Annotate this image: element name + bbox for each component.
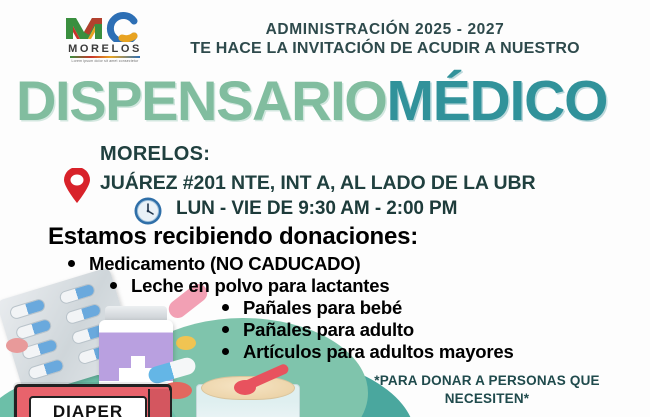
yellow-pill-illustration	[176, 336, 196, 350]
mc-logo-icon	[62, 8, 148, 42]
donation-item: Leche en polvo para lactantes	[110, 275, 389, 297]
title-dispensario: DISPENSARIO	[16, 69, 386, 132]
donation-item-label: Leche en polvo para lactantes	[131, 275, 389, 296]
header-block: ADMINISTRACIÓN 2025 - 2027 TE HACE LA IN…	[165, 20, 605, 59]
bullet-icon	[222, 304, 229, 311]
mc-logo-mark	[62, 8, 148, 42]
bullet-icon	[222, 348, 229, 355]
footer-note: *PARA DONAR A PERSONAS QUE NECESITEN*	[352, 372, 622, 408]
diaper-box-side	[148, 389, 170, 417]
logo-small-print: Lorem ipsum dolor sit amet consectetur	[62, 59, 148, 63]
page-title: DISPENSARIOMÉDICO	[16, 73, 607, 130]
diaper-box-illustration: DIAPER	[14, 384, 172, 417]
rose-pill-illustration	[6, 338, 28, 353]
logo-color-rule	[70, 56, 140, 58]
donation-item-label: Artículos para adultos mayores	[243, 341, 514, 362]
bullet-icon	[68, 260, 75, 267]
footer-note-line-2: NECESITEN*	[352, 390, 622, 408]
clock-icon	[133, 196, 163, 226]
formula-can-illustration	[196, 372, 300, 417]
bottle-cap	[105, 306, 167, 321]
bullet-icon	[222, 326, 229, 333]
address-text: JUÁREZ #201 NTE, INT A, AL LADO DE LA UB…	[100, 172, 535, 195]
morelos-logo: MORELOS Lorem ipsum dolor sit amet conse…	[62, 8, 148, 68]
city-label: MORELOS:	[100, 143, 210, 166]
title-medico: MÉDICO	[386, 69, 607, 133]
flyer-canvas: MORELOS Lorem ipsum dolor sit amet conse…	[0, 0, 650, 417]
donation-item-label: Pañales para bebé	[243, 297, 402, 318]
logo-name: MORELOS	[62, 43, 148, 55]
donations-heading: Estamos recibiendo donaciones:	[48, 223, 418, 251]
donation-item: Medicamento (NO CADUCADO)	[68, 253, 360, 275]
donation-item: Pañales para bebé	[222, 297, 402, 319]
donation-item: Artículos para adultos mayores	[222, 341, 514, 363]
donation-item: Pañales para adulto	[222, 319, 414, 341]
diaper-box-label: DIAPER	[29, 396, 147, 417]
hours-text: LUN - VIE DE 9:30 AM - 2:00 PM	[176, 198, 457, 220]
location-pin-icon	[62, 168, 92, 204]
header-line-2: TE HACE LA INVITACIÓN DE ACUDIR A NUESTR…	[165, 39, 605, 59]
footer-note-line-1: *PARA DONAR A PERSONAS QUE	[352, 372, 622, 390]
header-line-1: ADMINISTRACIÓN 2025 - 2027	[165, 20, 605, 39]
bullet-icon	[110, 282, 117, 289]
donation-item-label: Pañales para adulto	[243, 319, 414, 340]
donation-item-label: Medicamento (NO CADUCADO)	[89, 253, 360, 274]
